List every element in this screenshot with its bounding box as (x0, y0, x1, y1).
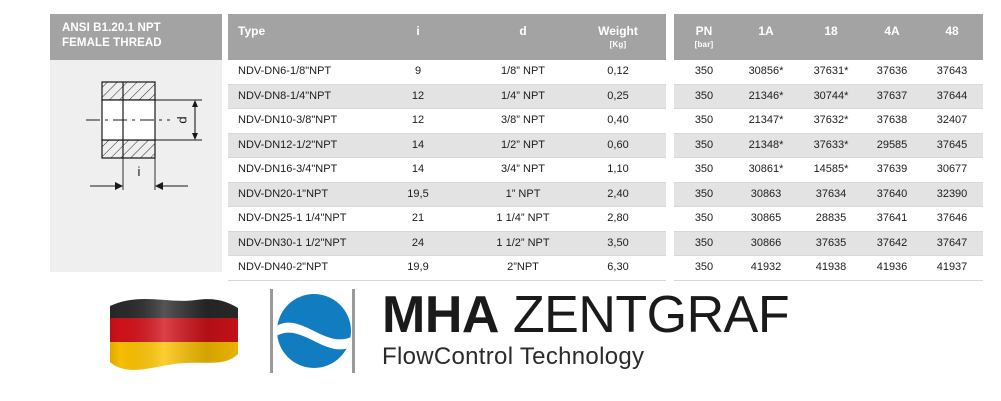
logo-name-zentgraf: ZENTGRAF (499, 286, 789, 344)
cell-type: NDV-DN16-3/4"NPT (238, 163, 337, 175)
cell-i: 9 (378, 65, 458, 77)
cell-d: 1/8” NPT (473, 65, 573, 77)
cell-code4: 32407 (922, 114, 982, 126)
cell-code4: 37645 (922, 139, 982, 151)
dimension-label-d: d (174, 116, 189, 123)
cell-code3: 37640 (862, 188, 922, 200)
cell-pn: 350 (676, 90, 732, 102)
cell-i: 19,5 (378, 188, 458, 200)
cell-weight: 0,60 (583, 139, 653, 151)
table-row: 35030856*37631*3763637643 (674, 60, 983, 85)
cell-d: 2”NPT (473, 261, 573, 273)
drawing-panel-title: ANSI B1.20.1 NPT FEMALE THREAD (50, 14, 222, 60)
cell-pn: 350 (676, 65, 732, 77)
cell-pn: 350 (676, 114, 732, 126)
cell-weight: 0,25 (583, 90, 653, 102)
cell-code1: 30856* (732, 65, 800, 77)
cell-type: NDV-DN6-1/8"NPT (238, 65, 331, 77)
cell-code2: 37633* (800, 139, 862, 151)
logo-tagline: FlowControl Technology (382, 344, 882, 370)
cell-code2: 37632* (800, 114, 862, 126)
table-row: 35030861*14585*3763930677 (674, 158, 983, 183)
cell-code2: 37631* (800, 65, 862, 77)
cell-i: 19,9 (378, 261, 458, 273)
cell-weight: 0,40 (583, 114, 653, 126)
cell-code1: 21347* (732, 114, 800, 126)
cell-pn: 350 (676, 212, 732, 224)
cell-code1: 21348* (732, 139, 800, 151)
cell-type: NDV-DN30-1 1/2"NPT (238, 237, 346, 249)
cell-type: NDV-DN8-1/4"NPT (238, 90, 331, 102)
col-header-weight-unit: [Kg] (583, 40, 653, 49)
cell-pn: 350 (676, 261, 732, 273)
cell-type: NDV-DN20-1"NPT (238, 188, 328, 200)
cell-type: NDV-DN40-2"NPT (238, 261, 328, 273)
col-header-weight-label: Weight (598, 24, 638, 38)
cell-code3: 37636 (862, 65, 922, 77)
table-row: NDV-DN25-1 1/4"NPT211 1/4” NPT2,80 (228, 207, 666, 232)
table-header-dimensions: Type i d Weight [Kg] (228, 14, 666, 60)
table-row: NDV-DN6-1/8"NPT91/8” NPT0,12 (228, 60, 666, 85)
table-row: NDV-DN30-1 1/2"NPT241 1/2” NPT3,50 (228, 232, 666, 257)
cell-d: 1” NPT (473, 188, 573, 200)
col-header-code2: 18 (800, 24, 862, 38)
col-header-d: d (473, 24, 573, 38)
logo-company-name: MHA ZENTGRAF (382, 287, 882, 343)
product-table: Type i d Weight [Kg] NDV-DN6-1/8"NPT91/8… (228, 14, 983, 272)
table-row: 35041932419384193641937 (674, 256, 983, 281)
cross-section-drawing: d i (50, 60, 222, 272)
cell-i: 14 (378, 163, 458, 175)
col-header-i: i (378, 24, 458, 38)
dimension-label-i: i (138, 164, 141, 179)
drawing-panel: ANSI B1.20.1 NPT FEMALE THREAD (50, 14, 222, 272)
cell-code3: 37639 (862, 163, 922, 175)
col-header-code4: 48 (922, 24, 982, 38)
table-header-codes: PN [bar] 1A 18 4A 48 (674, 14, 983, 60)
cell-code2: 41938 (800, 261, 862, 273)
cell-weight: 2,40 (583, 188, 653, 200)
table-row: NDV-DN12-1/2"NPT141/2” NPT0,60 (228, 134, 666, 159)
cell-weight: 6,30 (583, 261, 653, 273)
cell-code2: 30744* (800, 90, 862, 102)
table-row: 35021346*30744*3763737644 (674, 85, 983, 110)
cell-weight: 2,80 (583, 212, 653, 224)
cell-code4: 37643 (922, 65, 982, 77)
cell-code1: 30861* (732, 163, 800, 175)
cell-d: 1 1/4” NPT (473, 212, 573, 224)
cell-code4: 41937 (922, 261, 982, 273)
cell-code3: 37641 (862, 212, 922, 224)
table-row: 35021347*37632*3763832407 (674, 109, 983, 134)
cell-d: 1/2” NPT (473, 139, 573, 151)
col-header-pn: PN [bar] (676, 24, 732, 49)
cell-i: 24 (378, 237, 458, 249)
cell-code2: 28835 (800, 212, 862, 224)
cell-code1: 41932 (732, 261, 800, 273)
cell-d: 3/8” NPT (473, 114, 573, 126)
logo-name-mha: MHA (382, 286, 499, 344)
cell-code4: 32390 (922, 188, 982, 200)
cell-code3: 41936 (862, 261, 922, 273)
col-header-weight: Weight [Kg] (583, 24, 653, 49)
table-row: NDV-DN8-1/4"NPT121/4” NPT0,25 (228, 85, 666, 110)
cell-code4: 37644 (922, 90, 982, 102)
cell-pn: 350 (676, 139, 732, 151)
cell-d: 3/4” NPT (473, 163, 573, 175)
cell-weight: 0,12 (583, 65, 653, 77)
col-header-type: Type (238, 24, 265, 38)
cell-code3: 37642 (862, 237, 922, 249)
col-header-code1: 1A (732, 24, 800, 38)
cell-type: NDV-DN12-1/2"NPT (238, 139, 337, 151)
cell-pn: 350 (676, 237, 732, 249)
cell-weight: 1,10 (583, 163, 653, 175)
table-row: 35030863376343764032390 (674, 183, 983, 208)
cell-pn: 350 (676, 163, 732, 175)
cell-type: NDV-DN25-1 1/4"NPT (238, 212, 346, 224)
col-header-code3: 4A (862, 24, 922, 38)
cell-code1: 30865 (732, 212, 800, 224)
cell-code3: 37638 (862, 114, 922, 126)
cell-code3: 37637 (862, 90, 922, 102)
cell-type: NDV-DN10-3/8"NPT (238, 114, 337, 126)
table-row: 35021348*37633*2958537645 (674, 134, 983, 159)
table-row: NDV-DN16-3/4"NPT143/4” NPT1,10 (228, 158, 666, 183)
table-row: 35030866376353764237647 (674, 232, 983, 257)
cell-code1: 30863 (732, 188, 800, 200)
cell-code4: 37646 (922, 212, 982, 224)
table-block-dimensions: Type i d Weight [Kg] NDV-DN6-1/8"NPT91/8… (228, 14, 666, 272)
drawing-title-line2: FEMALE THREAD (62, 36, 222, 51)
cell-pn: 350 (676, 188, 732, 200)
logo-text-block: MHA ZENTGRAF FlowControl Technology (382, 287, 882, 370)
table-row: NDV-DN10-3/8"NPT123/8” NPT0,40 (228, 109, 666, 134)
cell-i: 14 (378, 139, 458, 151)
cell-code1: 30866 (732, 237, 800, 249)
mha-wave-logomark (268, 287, 372, 375)
cell-code4: 37647 (922, 237, 982, 249)
table-row: 35030865288353764137646 (674, 207, 983, 232)
cell-code2: 14585* (800, 163, 862, 175)
cell-code1: 21346* (732, 90, 800, 102)
col-header-pn-label: PN (696, 24, 713, 38)
datasheet-top-section: ANSI B1.20.1 NPT FEMALE THREAD (0, 0, 1001, 285)
cell-code3: 29585 (862, 139, 922, 151)
german-flag-icon (92, 290, 252, 382)
cell-d: 1/4” NPT (473, 90, 573, 102)
cell-code4: 30677 (922, 163, 982, 175)
cell-i: 12 (378, 90, 458, 102)
cell-code2: 37634 (800, 188, 862, 200)
branding-footer: MHA ZENTGRAF FlowControl Technology (0, 285, 1001, 401)
table-row: NDV-DN20-1"NPT19,51” NPT2,40 (228, 183, 666, 208)
table-row: NDV-DN40-2"NPT19,92”NPT6,30 (228, 256, 666, 281)
company-logo: MHA ZENTGRAF FlowControl Technology (268, 287, 888, 375)
cell-i: 12 (378, 114, 458, 126)
cell-i: 21 (378, 212, 458, 224)
cell-weight: 3,50 (583, 237, 653, 249)
table-block-codes: PN [bar] 1A 18 4A 48 35030856*37631*3763… (674, 14, 983, 272)
col-header-pn-unit: [bar] (676, 40, 732, 49)
cell-code2: 37635 (800, 237, 862, 249)
drawing-title-line1: ANSI B1.20.1 NPT (62, 21, 222, 36)
cell-d: 1 1/2” NPT (473, 237, 573, 249)
